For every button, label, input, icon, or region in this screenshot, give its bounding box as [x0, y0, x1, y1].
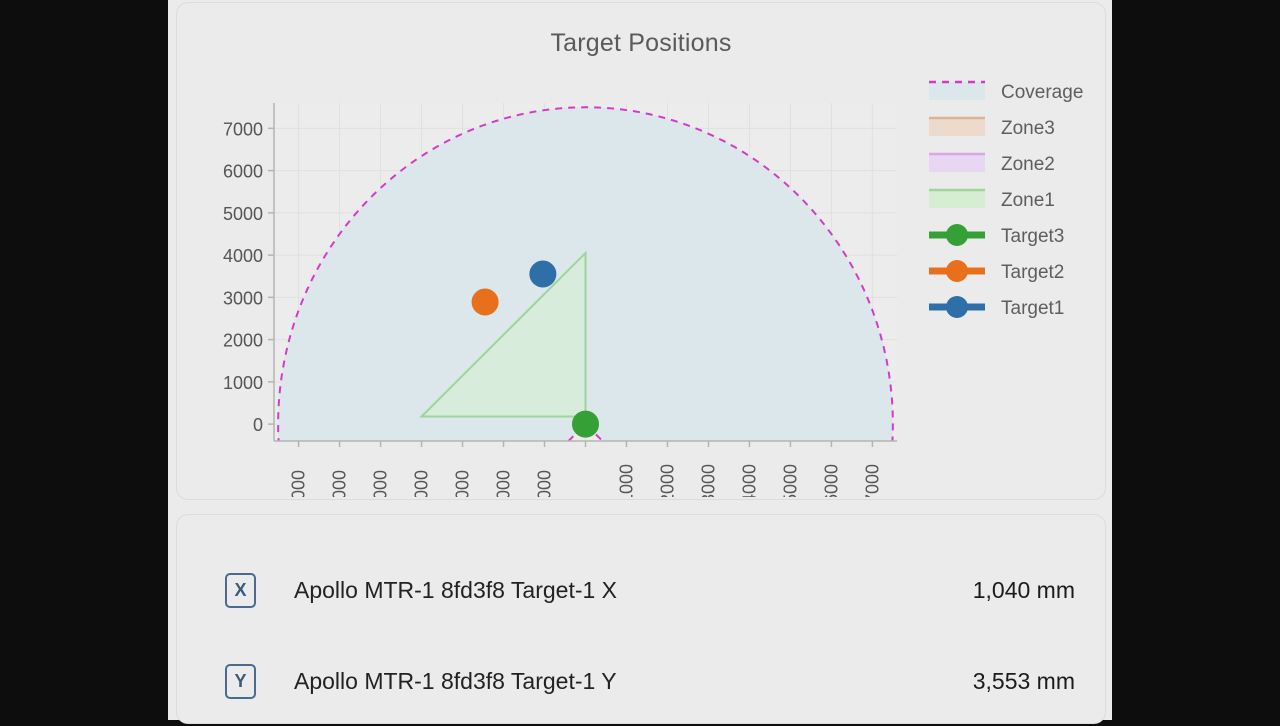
legend: CoverageZone3Zone2Zone1Target3Target2Tar… — [929, 82, 1083, 319]
x-tick-label: -2000 — [657, 464, 677, 497]
x-tick-label: 3000 — [452, 470, 472, 497]
legend-label: Zone1 — [1001, 190, 1055, 211]
legend-swatch — [929, 118, 985, 136]
legend-marker — [946, 296, 968, 318]
readout-label-y: Apollo MTR-1 8fd3f8 Target-1 Y — [294, 668, 973, 695]
legend-item-target3: Target3 — [929, 224, 1064, 247]
point-target2 — [472, 289, 498, 315]
legend-label: Target2 — [1001, 262, 1064, 283]
legend-item-zone1: Zone1 — [929, 190, 1055, 211]
y-tick-label: 4000 — [223, 246, 263, 266]
target-positions-plot[interactable]: 0100020003000400050006000700070006000500… — [177, 61, 1105, 497]
y-tick-label: 2000 — [223, 331, 263, 351]
y-axis-ticks: 01000200030004000500060007000 — [223, 119, 274, 435]
legend-label: Zone2 — [1001, 154, 1055, 175]
readout-label-x: Apollo MTR-1 8fd3f8 Target-1 X — [294, 577, 973, 604]
x-tick-label: 6000 — [330, 470, 350, 497]
axis-badge-x: X — [225, 573, 256, 608]
legend-label: Coverage — [1001, 82, 1083, 103]
legend-item-zone2: Zone2 — [929, 154, 1055, 175]
readout-value-y: 3,553 mm — [973, 668, 1075, 695]
x-tick-label: 2000 — [493, 470, 513, 497]
x-tick-label: 1000 — [534, 470, 554, 497]
readout-row-x[interactable]: X Apollo MTR-1 8fd3f8 Target-1 X 1,040 m… — [177, 545, 1105, 635]
legend-swatch — [929, 82, 985, 100]
x-tick-label: 7000 — [289, 470, 309, 497]
legend-item-coverage: Coverage — [929, 82, 1083, 103]
app-root: Target Positions 01000200030004000500060… — [168, 0, 1112, 720]
legend-label: Target1 — [1001, 298, 1064, 319]
legend-item-zone3: Zone3 — [929, 118, 1055, 139]
legend-marker — [946, 260, 968, 282]
legend-swatch — [929, 190, 985, 208]
point-target1 — [530, 261, 556, 287]
legend-item-target2: Target2 — [929, 260, 1064, 283]
y-tick-label: 0 — [253, 415, 263, 435]
legend-marker — [946, 224, 968, 246]
y-tick-label: 5000 — [223, 204, 263, 224]
readout-row-y[interactable]: Y Apollo MTR-1 8fd3f8 Target-1 Y 3,553 m… — [177, 636, 1105, 726]
legend-label: Target3 — [1001, 226, 1064, 247]
x-tick-label: -5000 — [780, 464, 800, 497]
y-tick-label: 6000 — [223, 162, 263, 182]
x-tick-label: -1000 — [616, 464, 636, 497]
chart-card: Target Positions 01000200030004000500060… — [176, 2, 1106, 500]
point-target3 — [573, 411, 599, 437]
readout-card: X Apollo MTR-1 8fd3f8 Target-1 X 1,040 m… — [176, 514, 1106, 724]
y-tick-label: 3000 — [223, 288, 263, 308]
x-tick-label: 4000 — [411, 470, 431, 497]
readout-value-x: 1,040 mm — [973, 577, 1075, 604]
x-tick-label: -3000 — [698, 464, 718, 497]
x-tick-label: 5000 — [371, 470, 391, 497]
y-tick-label: 1000 — [223, 373, 263, 393]
x-axis-ticks: 70006000500040003000200010000-1000-2000-… — [289, 441, 883, 497]
chart-title: Target Positions — [177, 29, 1105, 58]
x-tick-label: -4000 — [739, 464, 759, 497]
axis-badge-y: Y — [225, 664, 256, 699]
x-tick-label: -7000 — [862, 464, 882, 497]
legend-swatch — [929, 154, 985, 172]
x-tick-label: -6000 — [821, 464, 841, 497]
y-tick-label: 7000 — [223, 119, 263, 139]
legend-label: Zone3 — [1001, 118, 1055, 139]
legend-item-target1: Target1 — [929, 296, 1064, 319]
